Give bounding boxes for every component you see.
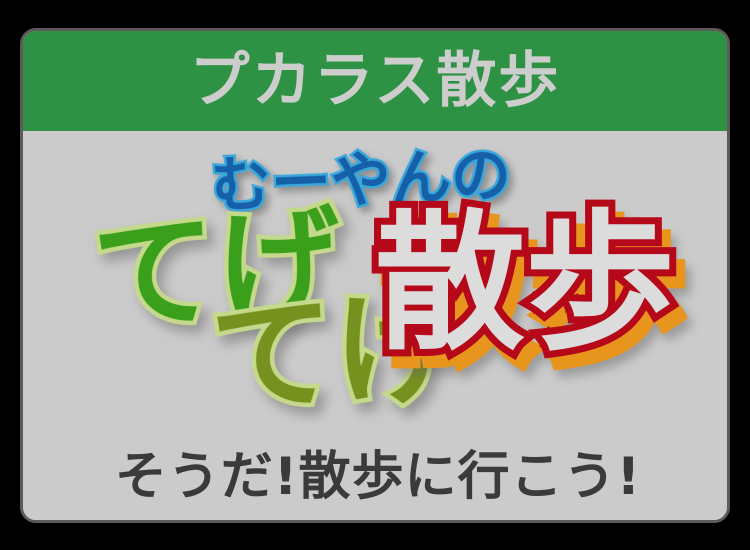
header-title: プカラス散歩: [190, 51, 561, 111]
header-band: プカラス散歩: [23, 31, 727, 131]
banner-card: プカラス散歩 むーやんの てげ てげ 散歩 散歩 散歩 そうだ!散歩に行こう!: [20, 28, 730, 523]
tagline-row: そうだ!散歩に行こう!: [23, 431, 730, 523]
body-area: むーやんの てげ てげ 散歩 散歩 散歩 そうだ!散歩に行こう!: [23, 131, 727, 523]
tagline-text: そうだ!散歩に行こう!: [115, 451, 641, 503]
logo-title-sanpo: 散歩 散歩 散歩: [375, 209, 715, 419]
logo-title-fill-layer: 散歩: [375, 209, 675, 359]
logo-block: むーやんの てげ てげ 散歩 散歩 散歩: [23, 131, 730, 421]
screenshot-stage: プカラス散歩 むーやんの てげ てげ 散歩 散歩 散歩 そうだ!散歩に行こう!: [0, 0, 750, 550]
